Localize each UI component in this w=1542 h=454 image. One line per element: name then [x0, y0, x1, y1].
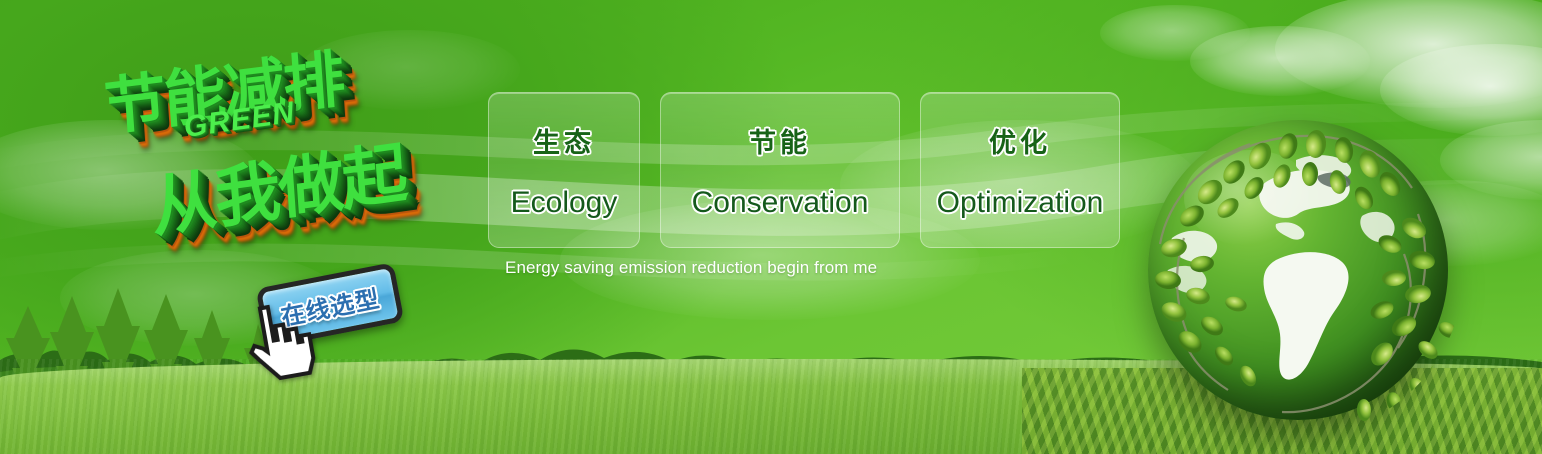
globe-sphere — [1148, 120, 1448, 420]
globe-highlight — [1184, 150, 1316, 246]
feature-card-conservation[interactable]: 节能 Conservation — [660, 92, 900, 248]
feature-card-list: 生态 Ecology 节能 Conservation 优化 Optimizati… — [488, 92, 1120, 248]
feature-card-optimization[interactable]: 优化 Optimization — [920, 92, 1120, 248]
leafy-earth-globe — [1148, 120, 1448, 420]
green-energy-banner: 节能减排 GREEN 从我做起 在线选型 生态 Ecology 节能 Conse… — [0, 0, 1542, 454]
banner-tagline: Energy saving emission reduction begin f… — [505, 258, 877, 278]
hand-pointer-icon — [233, 294, 320, 390]
feature-card-en-label: Optimization — [937, 186, 1104, 220]
feature-card-en-label: Ecology — [511, 186, 618, 220]
green-3d-logo: 节能减排 GREEN 从我做起 — [92, 25, 487, 281]
feature-card-cn-label: 生态 — [533, 121, 595, 160]
feature-card-cn-label: 优化 — [989, 121, 1051, 160]
feature-card-ecology[interactable]: 生态 Ecology — [488, 92, 640, 248]
feature-card-cn-label: 节能 — [749, 121, 811, 160]
feature-card-en-label: Conservation — [692, 186, 869, 220]
